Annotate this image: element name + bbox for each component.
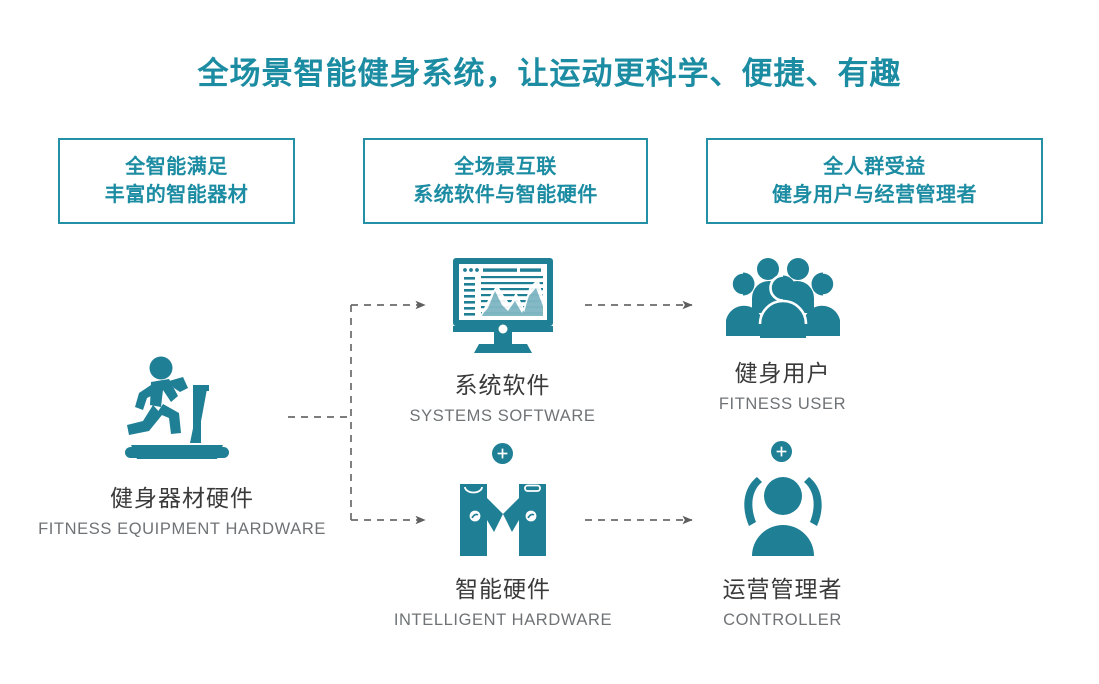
header-box-all-intelligent: 全智能满足 丰富的智能器材 <box>58 138 295 224</box>
treadmill-icon <box>117 355 247 467</box>
plus-badge-middle-column <box>492 443 513 464</box>
node-intelligent-label-cn: 智能硬件 <box>455 570 551 604</box>
node-controller-label-en: CONTROLLER <box>723 611 842 630</box>
node-software-label-cn: 系统软件 <box>455 366 551 400</box>
node-hardware-label-en: FITNESS EQUIPMENT HARDWARE <box>38 520 326 539</box>
node-systems-software: 系统软件 SYSTEMS SOFTWARE <box>400 258 605 426</box>
node-user-label-cn: 健身用户 <box>735 354 831 388</box>
monitor-chart-icon <box>450 258 556 354</box>
people-group-icon <box>724 258 842 342</box>
turnstile-gate-icon <box>450 480 556 558</box>
node-controller: 运营管理者 CONTROLLER <box>700 472 865 630</box>
node-controller-label-cn: 运营管理者 <box>723 570 843 604</box>
node-intelligent-label-en: INTELLIGENT HARDWARE <box>394 611 612 630</box>
node-intelligent-hardware: 智能硬件 INTELLIGENT HARDWARE <box>388 480 618 630</box>
header-box-2-line1: 全场景互联 <box>454 153 557 181</box>
plus-icon <box>496 447 509 460</box>
node-software-label-en: SYSTEMS SOFTWARE <box>410 407 596 426</box>
plus-badge-right-column <box>771 441 792 462</box>
header-box-3-line2: 健身用户与经营管理者 <box>772 181 977 209</box>
node-fitness-user: 健身用户 FITNESS USER <box>700 258 865 414</box>
node-user-label-en: FITNESS USER <box>719 395 846 414</box>
header-box-all-scene-connected: 全场景互联 系统软件与智能硬件 <box>363 138 648 224</box>
node-fitness-equipment-hardware: 健身器材硬件 FITNESS EQUIPMENT HARDWARE <box>22 355 342 539</box>
header-box-1-line2: 丰富的智能器材 <box>105 181 249 209</box>
header-box-1-line1: 全智能满足 <box>125 153 228 181</box>
header-box-2-line2: 系统软件与智能硬件 <box>413 181 598 209</box>
person-manager-icon <box>737 472 829 558</box>
page-title: 全场景智能健身系统，让运动更科学、便捷、有趣 <box>0 48 1099 93</box>
header-box-3-line1: 全人群受益 <box>823 153 926 181</box>
header-box-all-people-benefit: 全人群受益 健身用户与经营管理者 <box>706 138 1043 224</box>
plus-icon <box>775 445 788 458</box>
node-hardware-label-cn: 健身器材硬件 <box>110 479 254 513</box>
